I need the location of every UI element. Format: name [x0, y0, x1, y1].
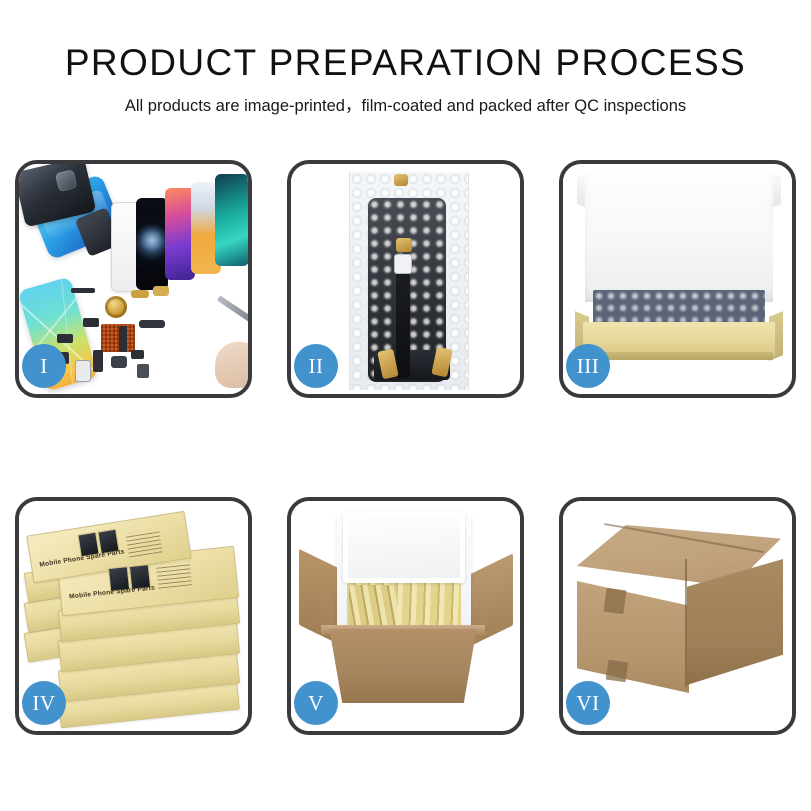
- process-step-1[interactable]: I: [15, 160, 252, 398]
- process-step-5[interactable]: V: [287, 497, 524, 735]
- antenna-strip-part: [139, 320, 165, 328]
- process-step-4[interactable]: Mobile Phone Spare Parts Mobile Phone Sp…: [15, 497, 252, 735]
- page-header: PRODUCT PREPARATION PROCESS All products…: [0, 0, 811, 116]
- step-badge-2: II: [294, 344, 338, 388]
- carton-tape-lower: [606, 660, 629, 683]
- connector-part: [131, 350, 144, 359]
- part-chip: [394, 254, 412, 274]
- gold-connector-part: [131, 290, 149, 298]
- flex-cable-part: [71, 288, 95, 293]
- gold-contact-top: [394, 174, 408, 186]
- gold-contact-upper: [396, 238, 412, 252]
- white-module-part: [75, 360, 91, 382]
- ribbon-cable-part: [93, 350, 103, 372]
- process-step-2[interactable]: II: [287, 160, 524, 398]
- chip-grid-part: [101, 324, 135, 352]
- bubble-wrapped-contents: [593, 290, 765, 326]
- box-label-textlines-b: [156, 561, 192, 588]
- button-part: [137, 364, 149, 378]
- process-step-6[interactable]: VI: [559, 497, 796, 735]
- part-flex-ribbon: [396, 260, 410, 378]
- black-phone-screen: [136, 198, 168, 290]
- bubble-wrap-bag: [349, 172, 469, 390]
- step-badge-4: IV: [22, 681, 66, 725]
- tweezers-tool: [217, 295, 248, 322]
- carton-tape-upper: [603, 588, 626, 615]
- step-badge-1: I: [22, 344, 66, 388]
- page-subtitle: All products are image-printed，film-coat…: [0, 97, 811, 117]
- process-step-grid: I II: [15, 160, 796, 735]
- vertical-cable-part: [119, 326, 127, 352]
- foam-lid: [343, 511, 465, 583]
- carton-front-wall: [323, 629, 483, 703]
- box-front-wall: [583, 322, 775, 356]
- box-inner-wall: [587, 226, 773, 292]
- gold-bracket-part: [153, 286, 169, 296]
- step-badge-6: VI: [566, 681, 610, 725]
- step-badge-3: III: [566, 344, 610, 388]
- technician-hand: [215, 342, 248, 388]
- carton-left-face: [577, 581, 689, 693]
- speaker-coil-part: [105, 296, 127, 318]
- box-base-edge: [585, 352, 773, 360]
- page-title: PRODUCT PREPARATION PROCESS: [0, 42, 811, 85]
- teal-phone-screen: [215, 174, 248, 266]
- carton-vertical-edge: [685, 559, 687, 687]
- sensor-part: [57, 334, 73, 343]
- step-badge-5: V: [294, 681, 338, 725]
- small-module-part: [83, 318, 99, 327]
- camera-module-part: [111, 356, 127, 368]
- process-step-3[interactable]: III: [559, 160, 796, 398]
